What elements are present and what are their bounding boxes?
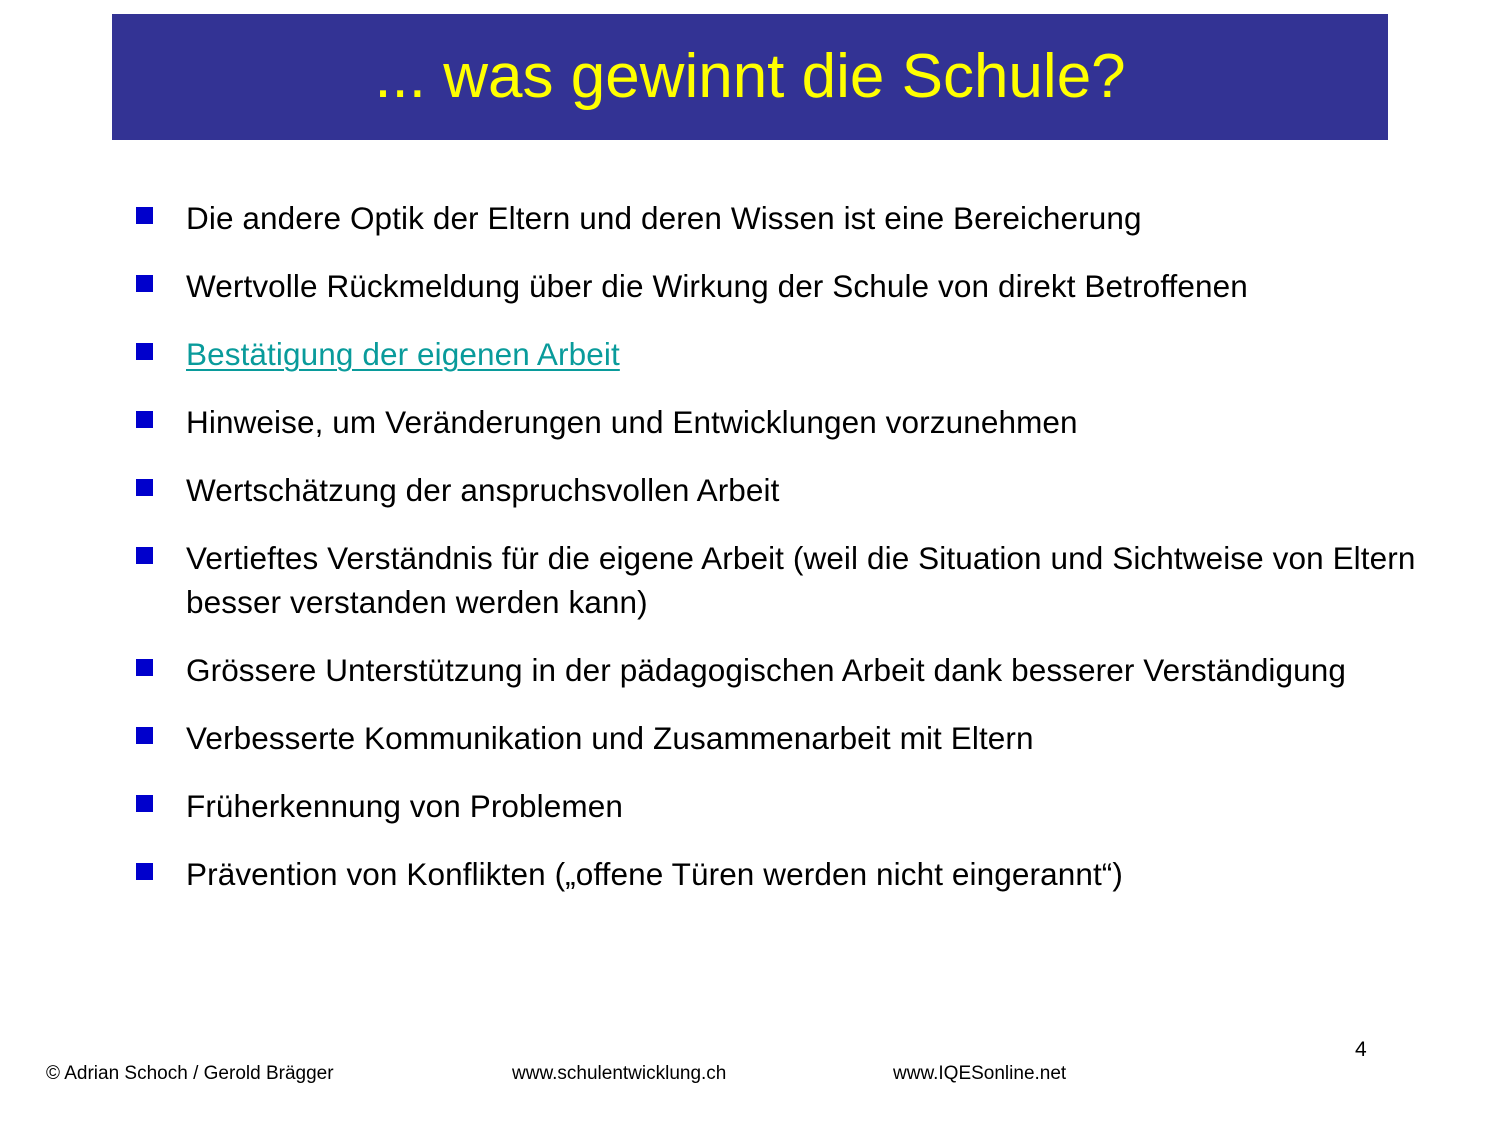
bullet-item[interactable]: Bestätigung der eigenen Arbeit (136, 332, 1466, 376)
bullet-text: Grössere Unterstützung in der pädagogisc… (186, 648, 1466, 692)
bullet-text: Vertieftes Verständnis für die eigene Ar… (186, 536, 1466, 624)
bullet-text: Prävention von Konflikten („offene Türen… (186, 852, 1466, 896)
bullet-text: Die andere Optik der Eltern und deren Wi… (186, 196, 1466, 240)
bullet-square-icon (136, 727, 153, 744)
bullet-square-icon (136, 479, 153, 496)
bullet-square-icon (136, 659, 153, 676)
bullet-square-icon (136, 275, 153, 292)
bullet-square-icon (136, 863, 153, 880)
slide-canvas: ... was gewinnt die Schule? Die andere O… (0, 0, 1500, 1125)
footer-copyright: © Adrian Schoch / Gerold Brägger (46, 1063, 334, 1085)
bullet-text: Früherkennung von Problemen (186, 784, 1466, 828)
bullet-square-icon (136, 547, 153, 564)
page-number: 4 (1355, 1038, 1367, 1062)
bullet-square-icon (136, 343, 153, 360)
bullet-text: Wertvolle Rückmeldung über die Wirkung d… (186, 264, 1466, 308)
bullet-item: Vertieftes Verständnis für die eigene Ar… (136, 536, 1466, 624)
bullet-item: Wertschätzung der anspruchsvollen Arbeit (136, 468, 1466, 512)
footer-link-schulentwicklung[interactable]: www.schulentwicklung.ch (512, 1063, 726, 1085)
bullet-square-icon (136, 411, 153, 428)
bullet-text: Hinweise, um Veränderungen und Entwicklu… (186, 400, 1466, 444)
bullet-item: Grössere Unterstützung in der pädagogisc… (136, 648, 1466, 692)
slide-title-bar: ... was gewinnt die Schule? (112, 14, 1388, 140)
footer-link-iqesonline[interactable]: www.IQESonline.net (893, 1063, 1066, 1085)
bullet-hyperlink[interactable]: Bestätigung der eigenen Arbeit (186, 332, 620, 376)
bullet-item: Prävention von Konflikten („offene Türen… (136, 852, 1466, 896)
bullet-square-icon (136, 795, 153, 812)
slide-footer: © Adrian Schoch / Gerold Brägger www.sch… (0, 1060, 1500, 1100)
bullet-item: Verbesserte Kommunikation und Zusammenar… (136, 716, 1466, 760)
bullet-text: Wertschätzung der anspruchsvollen Arbeit (186, 468, 1466, 512)
bullet-list: Die andere Optik der Eltern und deren Wi… (136, 196, 1466, 920)
bullet-item: Früherkennung von Problemen (136, 784, 1466, 828)
bullet-square-icon (136, 207, 153, 224)
page-title: ... was gewinnt die Schule? (374, 46, 1125, 108)
bullet-text: Verbesserte Kommunikation und Zusammenar… (186, 716, 1466, 760)
bullet-item: Die andere Optik der Eltern und deren Wi… (136, 196, 1466, 240)
bullet-item: Hinweise, um Veränderungen und Entwicklu… (136, 400, 1466, 444)
bullet-item: Wertvolle Rückmeldung über die Wirkung d… (136, 264, 1466, 308)
